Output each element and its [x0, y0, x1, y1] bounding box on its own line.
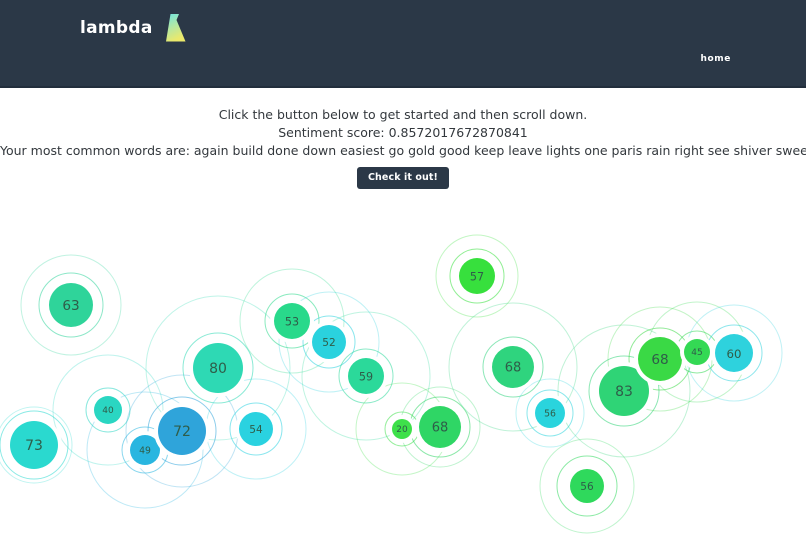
bubble[interactable]: 68 [634, 333, 686, 385]
bubble-circle[interactable] [158, 407, 206, 455]
bubble[interactable]: 56 [531, 394, 569, 432]
nav-link-home[interactable]: home [701, 54, 731, 64]
common-words-line: Your most common words are: again build … [0, 142, 806, 160]
bubble-circle[interactable] [492, 346, 534, 388]
lambda-flask-icon [163, 13, 189, 43]
bubble[interactable]: 57 [455, 254, 499, 298]
bubble-circle[interactable] [638, 337, 682, 381]
bubble-circle[interactable] [348, 358, 384, 394]
bubble-circle[interactable] [274, 303, 310, 339]
bubble[interactable]: 20 [388, 415, 416, 443]
bubble[interactable]: 53 [270, 299, 314, 343]
bubble[interactable]: 80 [189, 339, 247, 397]
bubble-circle[interactable] [535, 398, 565, 428]
bubble-circle[interactable] [10, 421, 58, 469]
bubble[interactable]: 56 [566, 465, 608, 507]
bubble-circle[interactable] [94, 396, 122, 424]
bubble-circle[interactable] [49, 283, 93, 327]
bubble[interactable]: 73 [6, 417, 62, 473]
bubble-circle[interactable] [570, 469, 604, 503]
brand-name: lambda [80, 20, 153, 37]
bubble-circle[interactable] [392, 419, 412, 439]
bubble[interactable]: 54 [235, 408, 277, 450]
bubble[interactable]: 52 [308, 321, 350, 363]
bubble-circle[interactable] [684, 339, 710, 365]
bubble-chart[interactable]: 6373404972805453525920685768565683684560 [0, 200, 806, 538]
bubble[interactable]: 60 [711, 330, 757, 376]
cta-container: Check it out! [0, 167, 806, 189]
bubble-circle[interactable] [459, 258, 495, 294]
intro-instruction: Click the button below to get started an… [0, 106, 806, 124]
bubble-circle[interactable] [312, 325, 346, 359]
bubble[interactable]: 59 [344, 354, 388, 398]
bubble-circle[interactable] [239, 412, 273, 446]
brand-logo[interactable]: lambda [80, 13, 189, 43]
bubble-circle[interactable] [715, 334, 753, 372]
nav-links: home [0, 48, 806, 66]
bubble[interactable]: 40 [90, 392, 126, 428]
sentiment-score-line: Sentiment score: 0.8572017672870841 [0, 124, 806, 142]
bubble[interactable]: 68 [488, 342, 538, 392]
intro-section: Click the button below to get started an… [0, 106, 806, 189]
bubble[interactable]: 72 [154, 403, 210, 459]
bubble[interactable]: 45 [680, 335, 714, 369]
bubble-circle[interactable] [419, 406, 461, 448]
bubble[interactable]: 68 [415, 402, 465, 452]
bubble-chart-svg: 6373404972805453525920685768565683684560 [0, 200, 806, 538]
navbar: lambda home [0, 0, 806, 88]
check-it-out-button[interactable]: Check it out! [357, 167, 449, 189]
bubble[interactable]: 63 [45, 279, 97, 331]
bubble-circle[interactable] [193, 343, 243, 393]
